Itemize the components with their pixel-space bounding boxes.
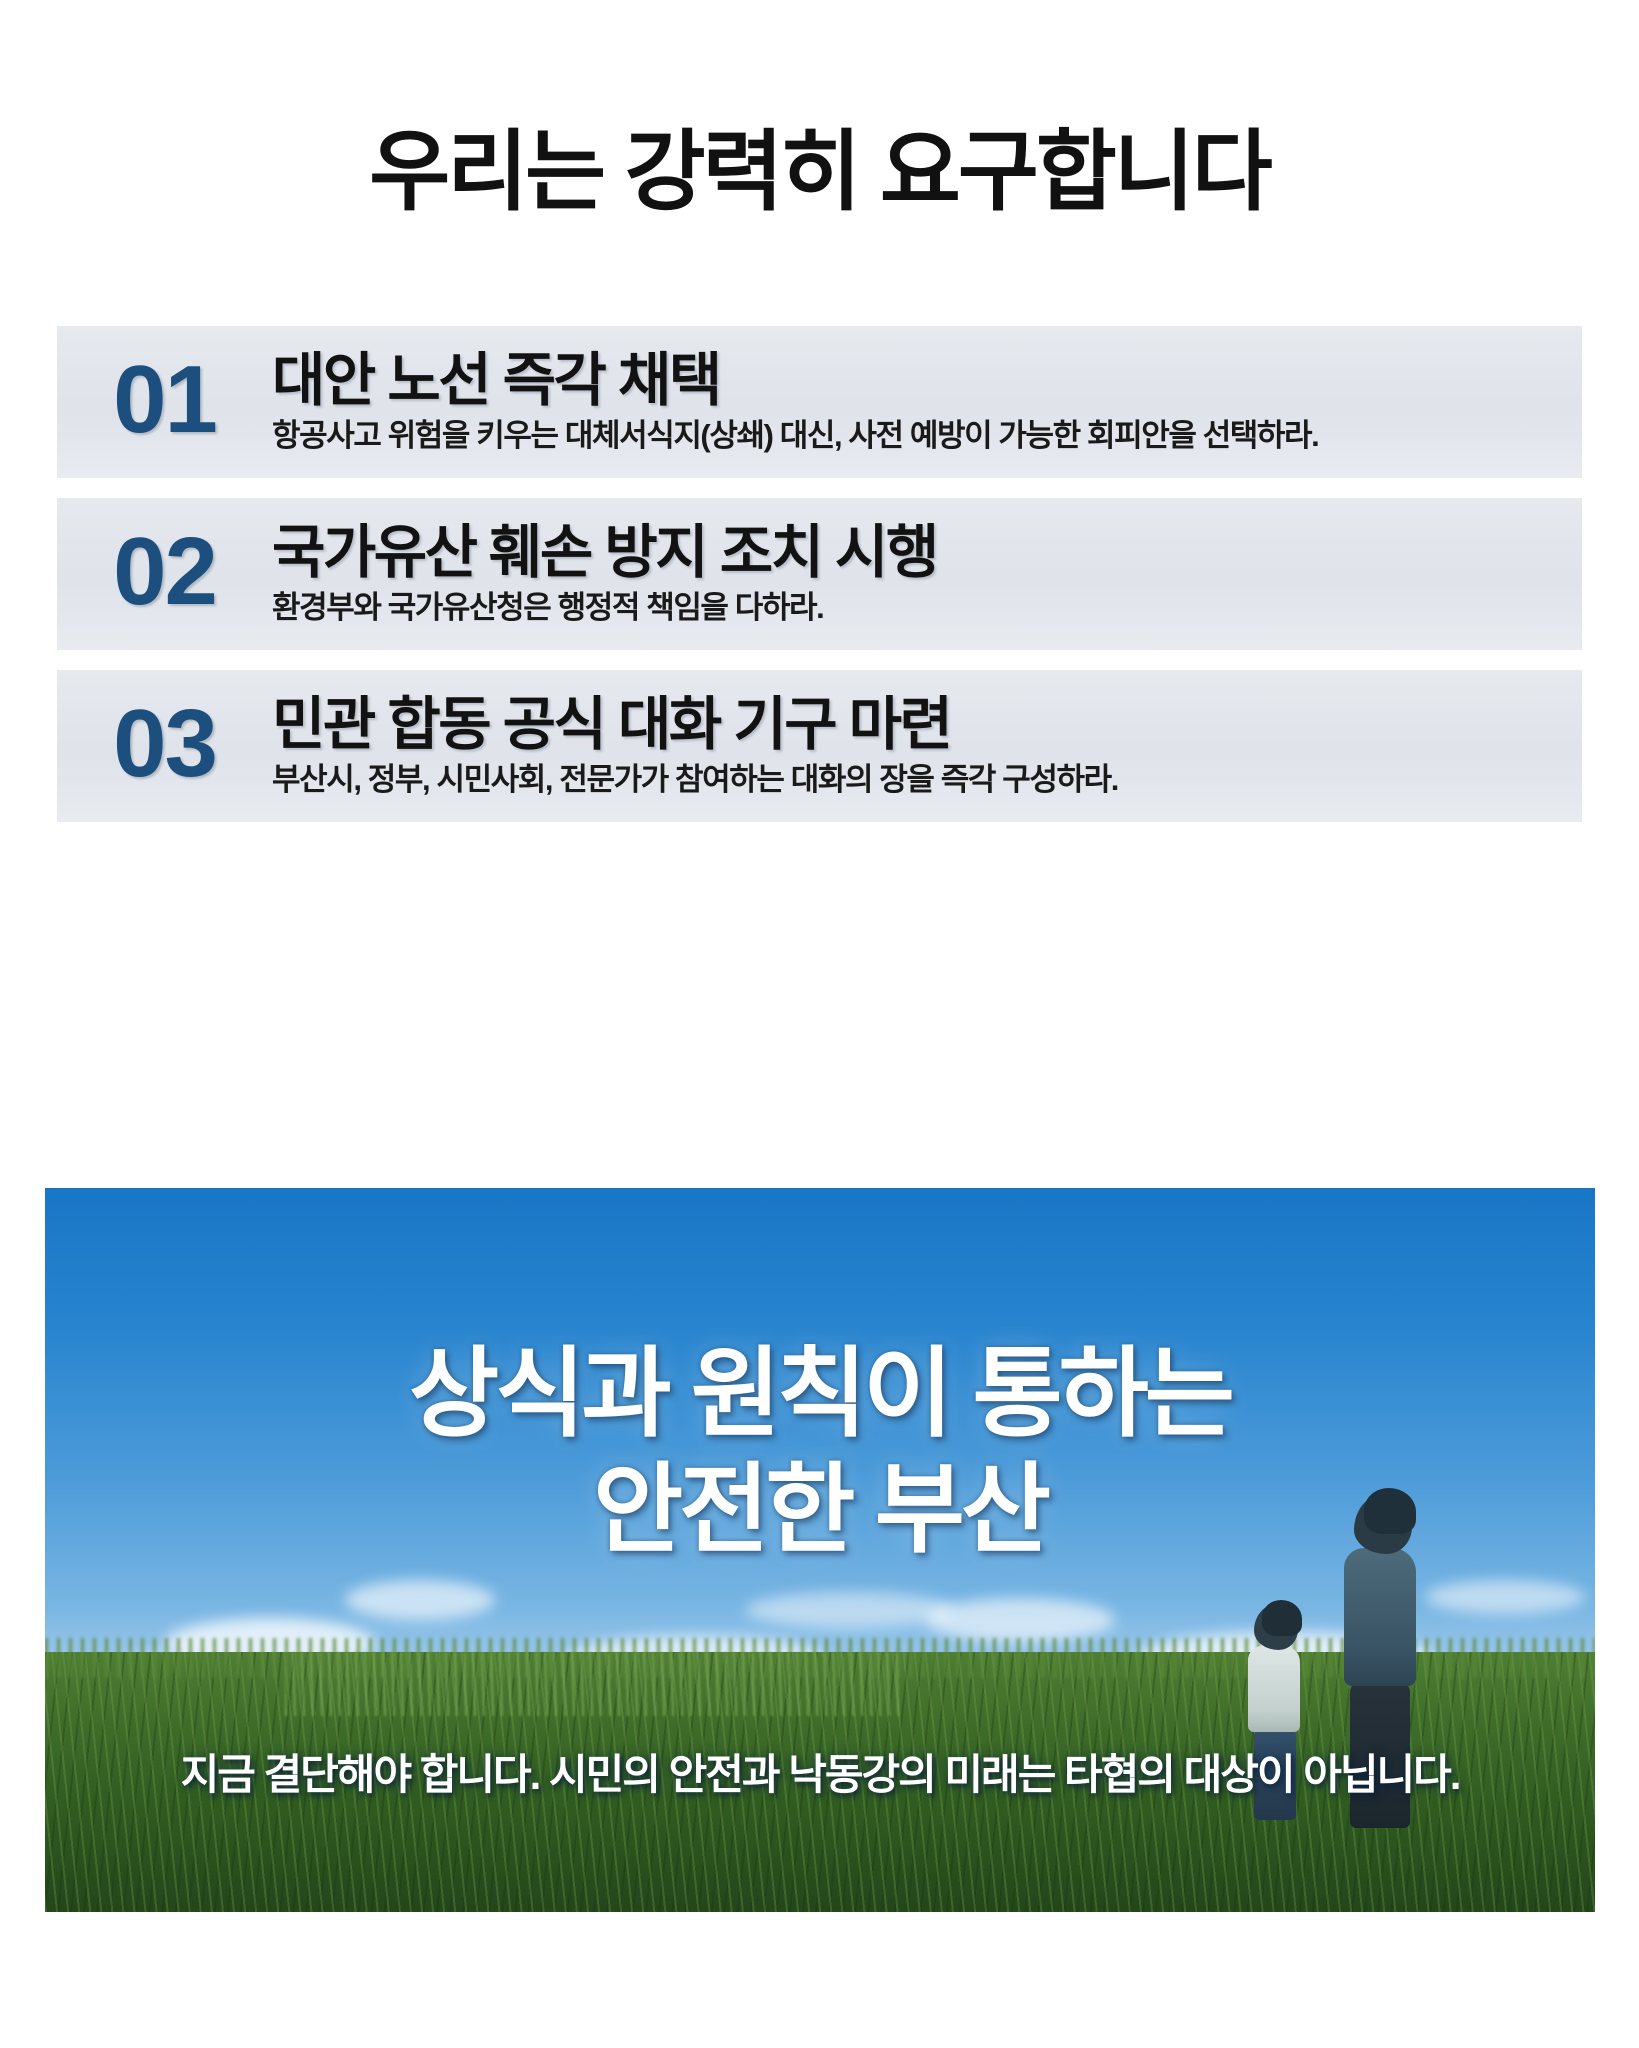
demand-subtitle-03: 부산시, 정부, 시민사회, 전문가가 참여하는 대화의 장을 즉각 구성하라. <box>272 762 1558 798</box>
adult-torso <box>1344 1548 1416 1686</box>
cloud-shape <box>925 1598 1115 1642</box>
demand-subtitle-01: 항공사고 위험을 키우는 대체서식지(상쇄) 대신, 사전 예방이 가능한 회피… <box>272 418 1558 454</box>
cloud-shape <box>1425 1580 1585 1614</box>
photo-caption: 지금 결단해야 합니다. 시민의 안전과 낙동강의 미래는 타협의 대상이 아닙… <box>45 1741 1595 1802</box>
hero-photo-panel: 상식과 원칙이 통하는 안전한 부산 지금 결단해야 합니다. 시민의 안전과 … <box>45 1188 1595 1912</box>
demand-heading-03: 민관 합동 공식 대화 기구 마련 <box>272 695 1558 756</box>
demand-subtitle-02: 환경부와 국가유산청은 행정적 책임을 다하라. <box>272 590 1558 626</box>
cloud-shape <box>745 1592 955 1628</box>
demand-heading-01: 대안 노선 즉각 채택 <box>272 351 1558 412</box>
photo-headline-line2: 안전한 부산 <box>45 1452 1595 1568</box>
demand-item-01: 01 대안 노선 즉각 채택 항공사고 위험을 키우는 대체서식지(상쇄) 대신… <box>57 326 1582 478</box>
cloud-shape <box>345 1580 495 1620</box>
page-title: 우리는 강력히 요구합니다 <box>0 128 1639 216</box>
child-hair <box>1262 1600 1302 1636</box>
poster-root: 우리는 강력히 요구합니다 01 대안 노선 즉각 채택 항공사고 위험을 키우… <box>0 0 1639 2048</box>
demand-item-03: 03 민관 합동 공식 대화 기구 마련 부산시, 정부, 시민사회, 전문가가… <box>57 670 1582 822</box>
demand-body-03: 민관 합동 공식 대화 기구 마련 부산시, 정부, 시민사회, 전문가가 참여… <box>272 670 1582 822</box>
demand-body-02: 국가유산 훼손 방지 조치 시행 환경부와 국가유산청은 행정적 책임을 다하라… <box>272 498 1582 650</box>
demand-number-02: 02 <box>57 498 272 650</box>
demand-heading-02: 국가유산 훼손 방지 조치 시행 <box>272 523 1558 584</box>
photo-headline-line1: 상식과 원칙이 통하는 <box>409 1338 1231 1448</box>
midground-grass-tufts <box>285 1652 905 1716</box>
demands-list: 01 대안 노선 즉각 채택 항공사고 위험을 키우는 대체서식지(상쇄) 대신… <box>57 326 1582 842</box>
demand-number-03: 03 <box>57 670 272 822</box>
child-torso <box>1248 1646 1300 1732</box>
photo-headline: 상식과 원칙이 통하는 안전한 부산 <box>45 1336 1595 1567</box>
demand-body-01: 대안 노선 즉각 채택 항공사고 위험을 키우는 대체서식지(상쇄) 대신, 사… <box>272 326 1582 478</box>
demand-item-02: 02 국가유산 훼손 방지 조치 시행 환경부와 국가유산청은 행정적 책임을 … <box>57 498 1582 650</box>
demand-number-01: 01 <box>57 326 272 478</box>
